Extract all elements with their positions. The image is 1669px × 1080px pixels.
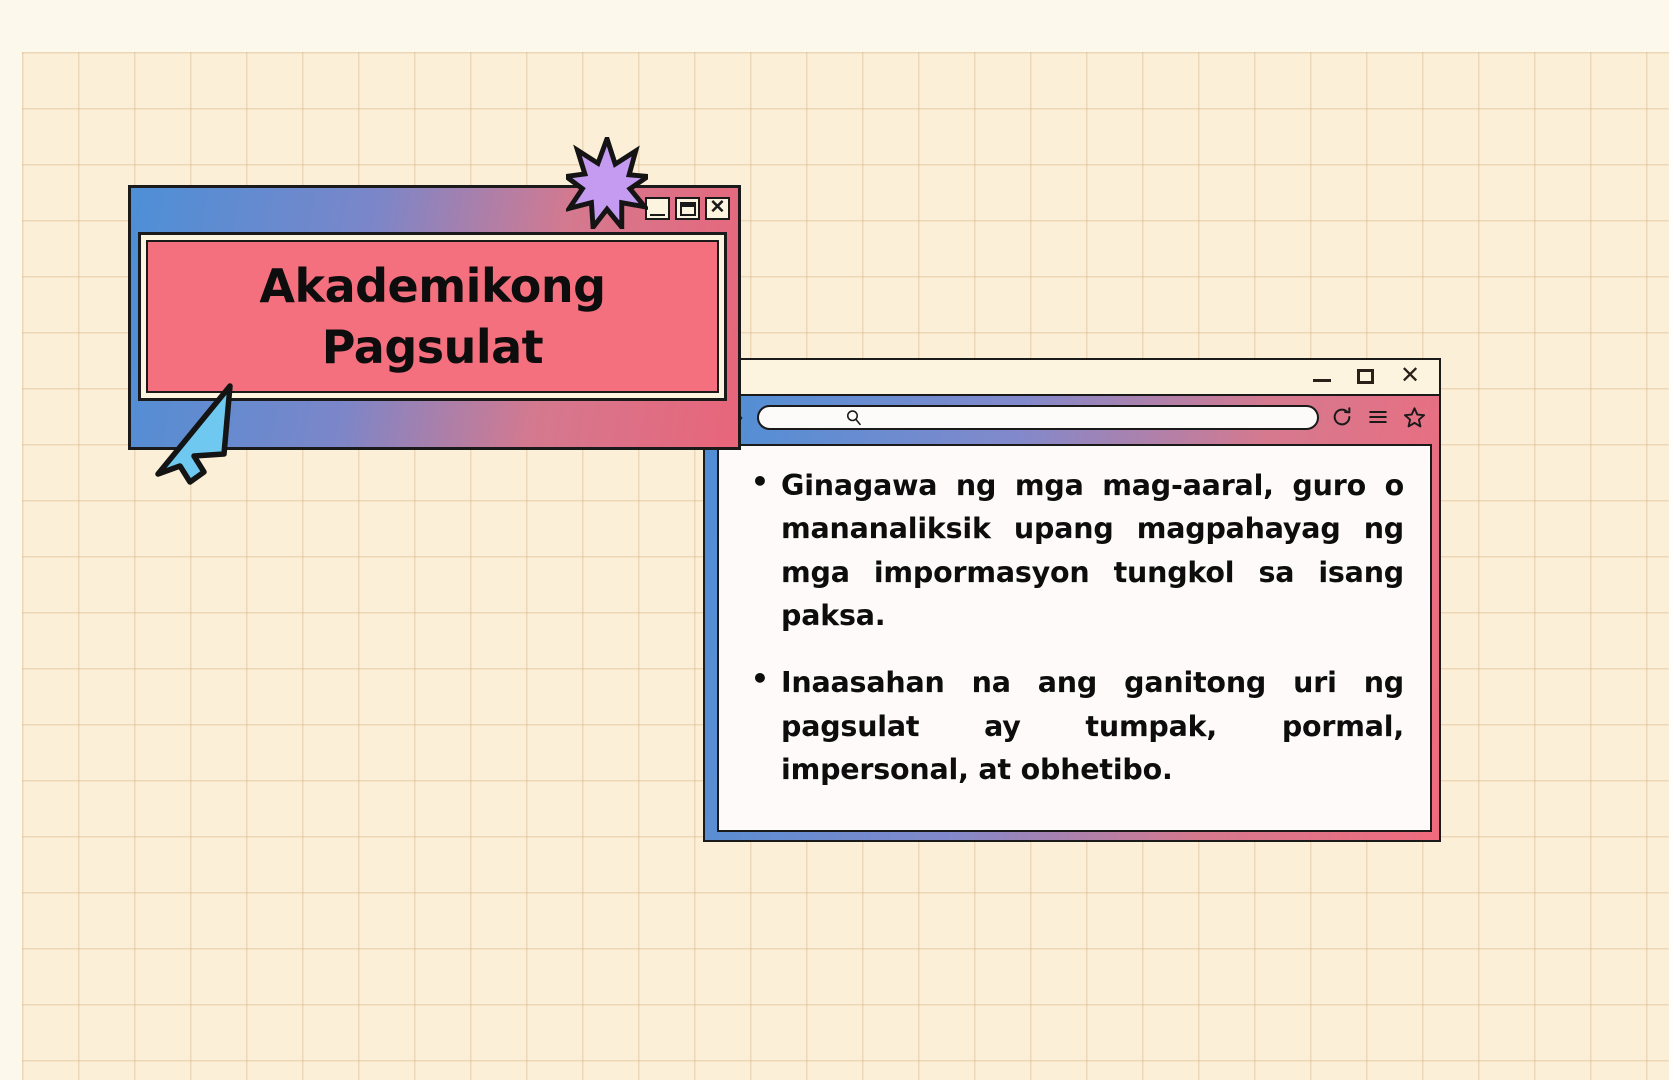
url-input[interactable]	[757, 405, 1319, 430]
close-icon[interactable]: ✕	[1395, 364, 1425, 390]
title-card-panel: Akademikong Pagsulat	[146, 240, 719, 393]
browser-titlebar: ✕	[705, 360, 1439, 396]
browser-content-area: Ginagawa ng mga mag-aaral, guro o manana…	[717, 444, 1432, 832]
paper-top-margin	[0, 0, 1669, 52]
paper-left-margin	[0, 0, 22, 1080]
minimize-icon[interactable]	[645, 197, 670, 220]
minimize-icon[interactable]	[1307, 364, 1337, 390]
slide-canvas: ✕ Akademikong Pagsulat ✕ →	[0, 0, 1669, 1080]
content-browser-window: ✕ →	[703, 358, 1441, 842]
bookmark-star-icon[interactable]	[1401, 404, 1427, 430]
reload-icon[interactable]	[1329, 404, 1355, 430]
title-card-frame: Akademikong Pagsulat	[138, 232, 727, 401]
list-item: Ginagawa ng mga mag-aaral, guro o manana…	[747, 464, 1404, 637]
browser-toolbar: →	[705, 396, 1439, 438]
maximize-icon[interactable]	[1351, 364, 1381, 390]
page-title: Akademikong Pagsulat	[259, 256, 605, 377]
menu-icon[interactable]	[1365, 404, 1391, 430]
maximize-icon[interactable]	[675, 197, 700, 220]
cursor-arrow-icon	[152, 378, 242, 486]
search-icon	[845, 409, 863, 427]
list-item: Inaasahan na ang ganitong uri ng pagsula…	[747, 661, 1404, 791]
bullet-list: Ginagawa ng mga mag-aaral, guro o manana…	[747, 464, 1404, 791]
starburst-icon	[566, 137, 648, 229]
close-icon[interactable]: ✕	[705, 197, 730, 220]
